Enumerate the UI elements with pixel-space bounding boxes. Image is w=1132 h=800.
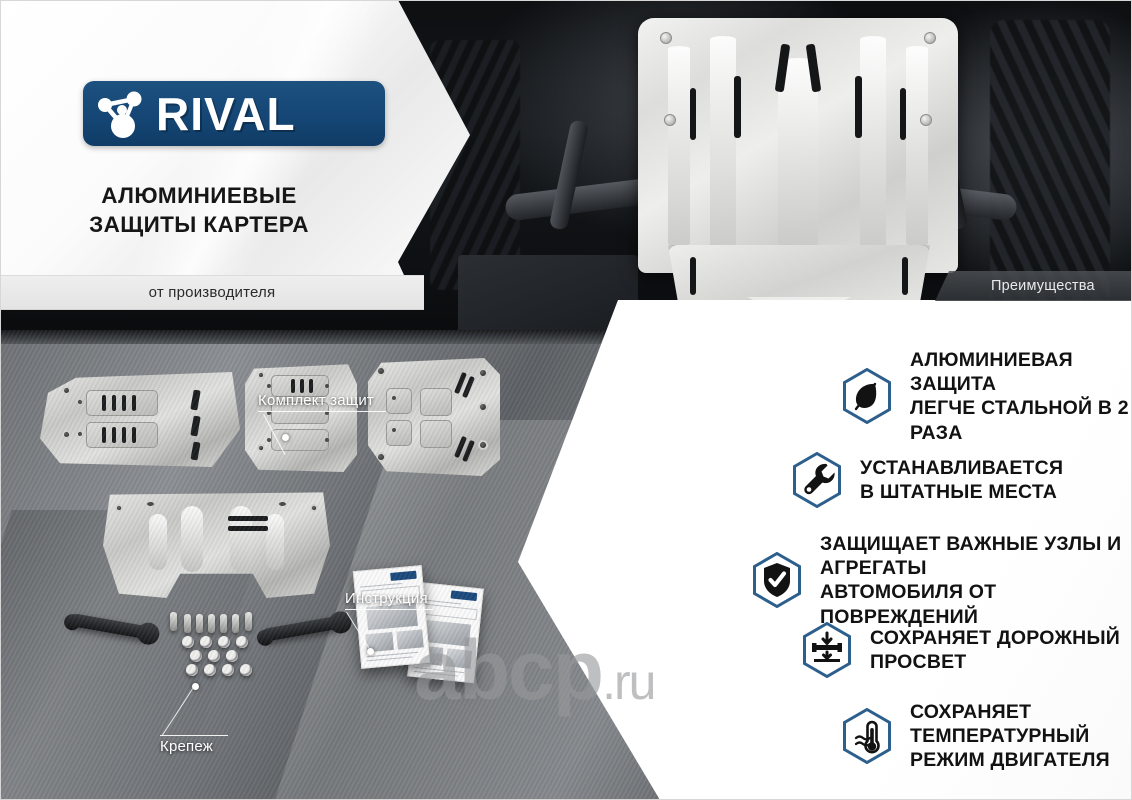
strut-left [549,119,589,230]
leaf-icon [842,368,892,424]
callout-hardware-label: Крепеж [160,738,228,755]
feature-item-clearance-text: СОХРАНЯЕТ ДОРОЖНЫЙ ПРОСВЕТ [870,626,1132,674]
rival-logo: RIVAL [83,81,385,146]
hero-card [0,0,470,320]
mounting-bracket-left [69,613,152,640]
promo-banner: abcp.ru Комплект защит Инструкция Крепеж [0,0,1132,800]
page-title-line1: АЛЮМИНИЕВЫЕ [0,182,398,211]
feature-item-lightweight-text: АЛЮМИНИЕВАЯ ЗАЩИТА ЛЕГЧЕ СТАЛЬНОЙ В 2 РА… [910,348,1132,445]
page-title-line2: ЗАЩИТЫ КАРТЕРА [0,211,398,240]
skid-plate-main [103,488,330,598]
hero-card-glare [0,0,470,320]
callout-hardware: Крепеж [160,735,228,755]
feature-item-temperature: СОХРАНЯЕТ ТЕМПЕРАТУРНЫЙ РЕЖИМ ДВИГАТЕЛЯ [842,700,1132,773]
watermark: abcp.ru [414,628,654,712]
watermark-name: abcp [414,623,602,717]
tire-right [990,20,1110,310]
skid-plate-3 [368,358,500,476]
tab-advantages[interactable]: Преимущества [935,271,1132,301]
callout-kit: Комплект защит [258,392,386,412]
skid-plate-1 [40,372,240,467]
rival-logo-text: RIVAL [156,91,296,137]
callout-manual-label: Инструкция [345,590,433,607]
callout-manual: Инструкция [345,590,433,610]
mounting-bracket-right [261,615,344,642]
wrench-icon [792,452,842,508]
thermometer-icon [842,708,892,764]
installed-skid-plate [638,18,958,273]
shield-check-icon [752,552,802,608]
feature-item-lightweight: АЛЮМИНИЕВАЯ ЗАЩИТА ЛЕГЧЕ СТАЛЬНОЙ В 2 РА… [842,348,1132,445]
subtitle-bar: от производителя [0,275,424,310]
tab-advantages-label: Преимущества [991,278,1095,294]
feature-item-clearance: СОХРАНЯЕТ ДОРОЖНЫЙ ПРОСВЕТ [802,622,1132,678]
skid-plate-2 [245,362,357,472]
feature-item-fitment: УСТАНАВЛИВАЕТСЯ В ШТАТНЫЕ МЕСТА [792,452,1063,508]
subtitle-text: от производителя [149,284,276,301]
feature-item-temperature-text: СОХРАНЯЕТ ТЕМПЕРАТУРНЫЙ РЕЖИМ ДВИГАТЕЛЯ [910,700,1132,773]
page-title: АЛЮМИНИЕВЫЕ ЗАЩИТЫ КАРТЕРА [0,182,398,240]
advantages-list: АЛЮМИНИЕВАЯ ЗАЩИТА ЛЕГЧЕ СТАЛЬНОЙ В 2 РА… [500,300,1132,800]
watermark-tld: .ru [602,654,654,710]
background-sheen-dark [0,510,272,800]
ground-clearance-icon [802,622,852,678]
feature-item-fitment-text: УСТАНАВЛИВАЕТСЯ В ШТАТНЫЕ МЕСТА [860,456,1063,504]
feature-item-protection-text: ЗАЩИЩАЕТ ВАЖНЫЕ УЗЛЫ И АГРЕГАТЫ АВТОМОБИ… [820,532,1132,629]
feature-item-protection: ЗАЩИЩАЕТ ВАЖНЫЕ УЗЛЫ И АГРЕГАТЫ АВТОМОБИ… [752,532,1132,629]
molecule-icon [92,88,154,140]
callout-kit-label: Комплект защит [258,392,386,409]
